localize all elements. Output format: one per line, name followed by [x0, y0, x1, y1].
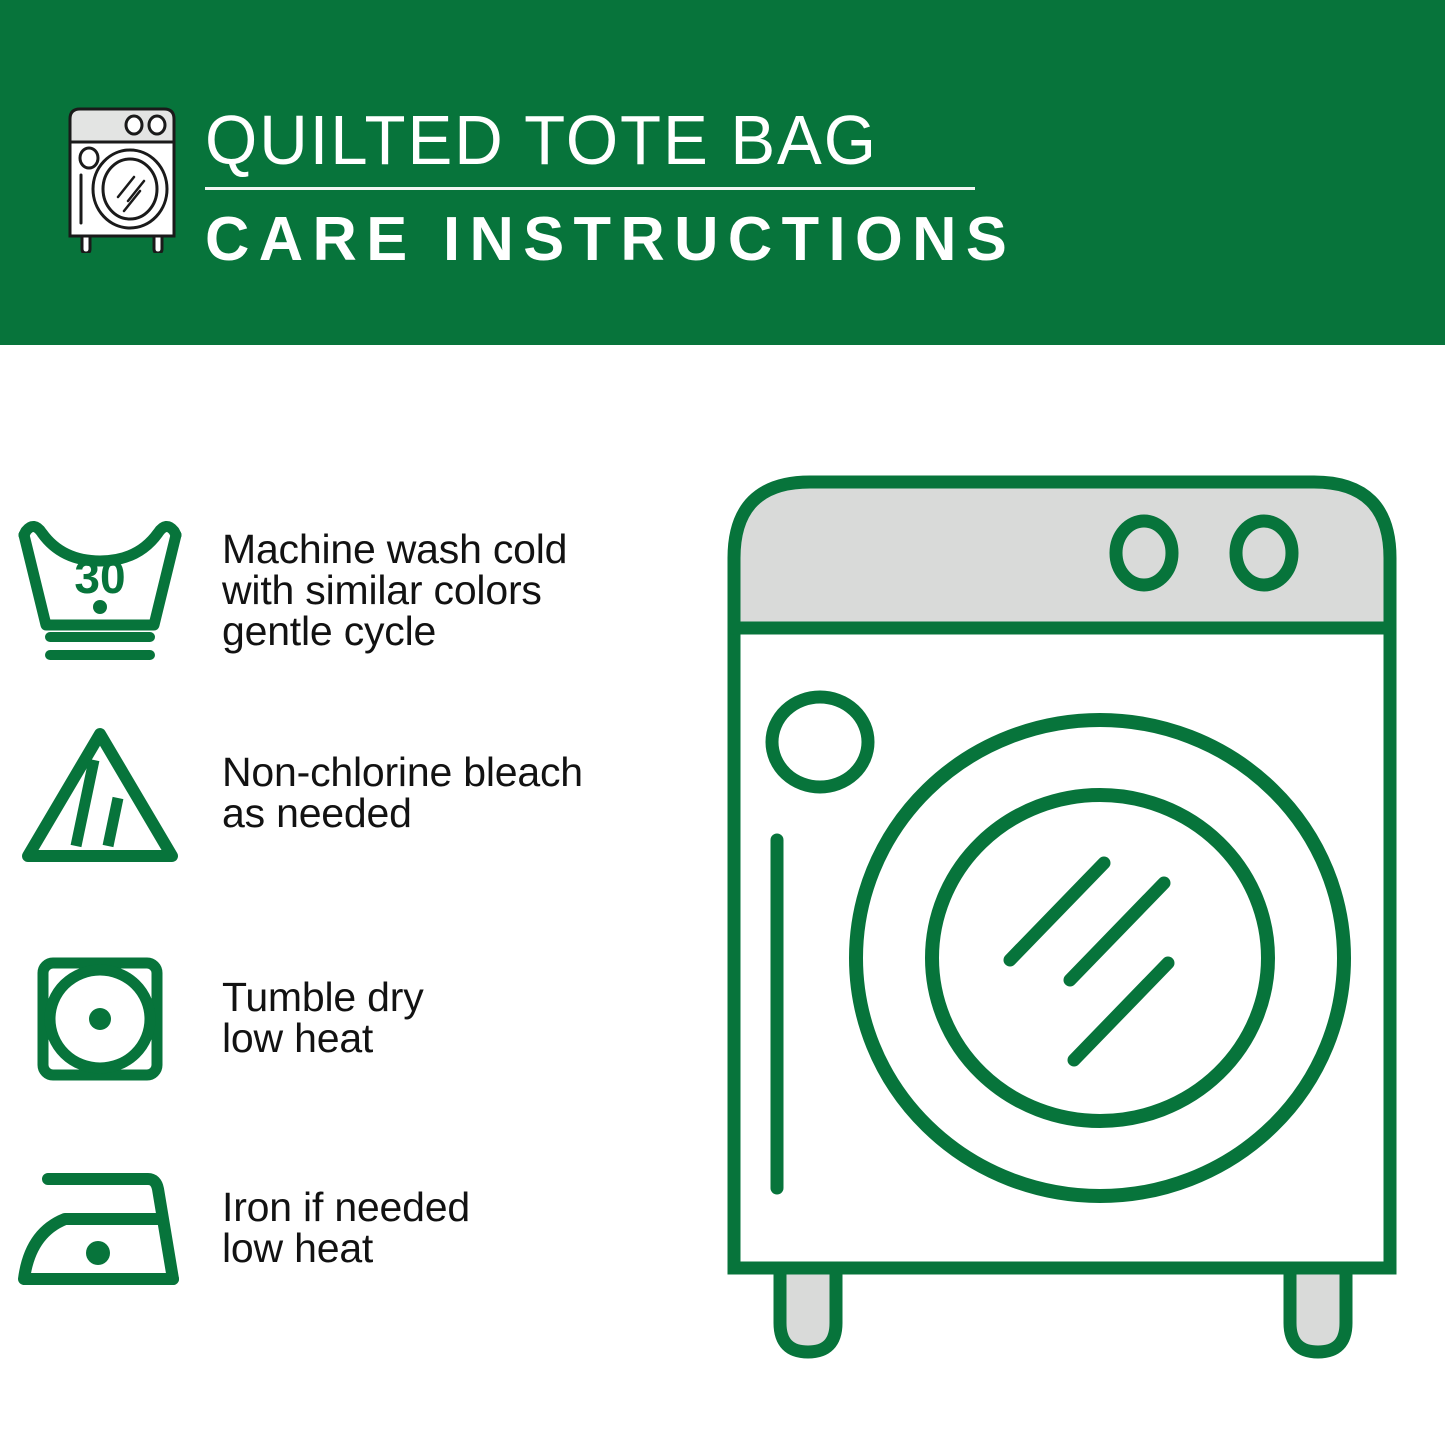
care-instruction-list: 30 Machine wash cold with similar colors… [0, 345, 710, 1445]
care-line-1: Iron if needed [222, 1187, 710, 1228]
care-row-bleach: Non-chlorine bleach as needed [0, 700, 710, 885]
tumble-dry-low-icon [0, 943, 200, 1093]
header-banner: QUILTED TOTE BAG CARE INSTRUCTIONS [0, 0, 1445, 345]
care-text-tumble-dry: Tumble dry low heat [200, 977, 710, 1059]
leg-right [1290, 1268, 1346, 1352]
care-text-bleach: Non-chlorine bleach as needed [200, 752, 710, 834]
wash-temperature-label: 30 [74, 551, 125, 603]
care-line-2: with similar colors [222, 570, 710, 611]
page-subtitle: CARE INSTRUCTIONS [205, 206, 987, 274]
care-line-2: as needed [222, 793, 710, 834]
page-title: QUILTED TOTE BAG [205, 100, 963, 180]
care-row-tumble-dry: Tumble dry low heat [0, 925, 710, 1110]
machine-wash-30-gentle-icon: 30 [0, 515, 200, 665]
knob-right[interactable] [1236, 521, 1292, 585]
care-row-machine-wash: 30 Machine wash cold with similar colors… [0, 490, 710, 690]
care-line-2: low heat [222, 1018, 710, 1059]
non-chlorine-bleach-icon [0, 718, 200, 868]
care-instructions-infographic: QUILTED TOTE BAG CARE INSTRUCTIONS 30 [0, 0, 1445, 1445]
care-line-1: Tumble dry [222, 977, 710, 1018]
knob-left[interactable] [1116, 521, 1172, 585]
care-line-1: Non-chlorine bleach [222, 752, 710, 793]
iron-low-heat-icon [0, 1153, 200, 1303]
leg-left [780, 1268, 836, 1352]
care-row-iron: Iron if needed low heat [0, 1135, 710, 1320]
care-line-1: Machine wash cold [222, 529, 710, 570]
detergent-port [772, 697, 868, 787]
title-divider [205, 187, 975, 190]
front-load-washing-machine-illustration [712, 468, 1412, 1373]
header-text-block: QUILTED TOTE BAG CARE INSTRUCTIONS [205, 100, 995, 274]
care-text-machine-wash: Machine wash cold with similar colors ge… [200, 529, 710, 652]
care-line-2: low heat [222, 1228, 710, 1269]
care-line-3: gentle cycle [222, 611, 710, 652]
washing-machine-icon [62, 101, 182, 253]
care-text-iron: Iron if needed low heat [200, 1187, 710, 1269]
